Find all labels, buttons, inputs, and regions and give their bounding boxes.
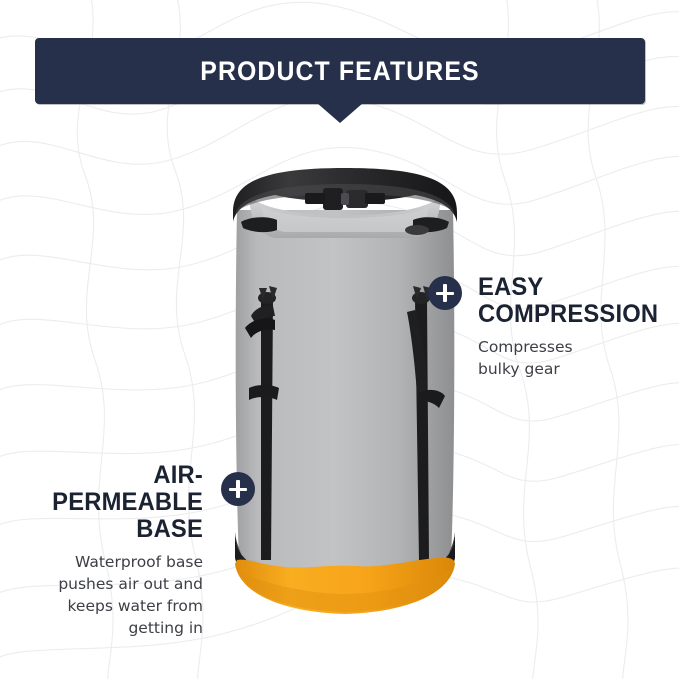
plus-icon[interactable] xyxy=(428,276,462,310)
feature-heading: AIR-PERMEABLE BASE xyxy=(20,462,203,543)
plus-icon-vertical-bar xyxy=(236,480,240,498)
feature-subtext: Waterproof base pushes air out and keeps… xyxy=(10,551,203,639)
feature-subtext-line2: bulky gear xyxy=(478,358,668,380)
feature-subtext-line1: Waterproof base xyxy=(10,551,203,573)
air-permeable-base-panel xyxy=(235,557,455,614)
feature-air-permeable-base[interactable]: AIR-PERMEABLE BASE Waterproof base pushe… xyxy=(10,462,255,639)
feature-subtext-line2: pushes air out and xyxy=(10,573,203,595)
plus-icon-vertical-bar xyxy=(443,284,447,302)
feature-easy-compression[interactable]: EASY COMPRESSION Compresses bulky gear xyxy=(428,274,668,380)
header-banner: PRODUCT FEATURES xyxy=(35,38,645,104)
feature-heading-line2: COMPRESSION xyxy=(478,301,659,328)
banner-arrow-icon xyxy=(317,103,363,123)
feature-subtext-line3: keeps water from xyxy=(10,595,203,617)
plus-icon[interactable] xyxy=(221,472,255,506)
feature-subtext-line1: Compresses xyxy=(478,336,668,358)
feature-heading: EASY COMPRESSION xyxy=(478,274,659,328)
feature-heading-line1: EASY xyxy=(478,274,659,301)
feature-subtext-line4: getting in xyxy=(10,617,203,639)
feature-heading-line1: AIR-PERMEABLE xyxy=(20,462,203,516)
feature-subtext: Compresses bulky gear xyxy=(478,336,668,380)
feature-heading-line2: BASE xyxy=(20,516,203,543)
page-title: PRODUCT FEATURES xyxy=(59,38,620,104)
